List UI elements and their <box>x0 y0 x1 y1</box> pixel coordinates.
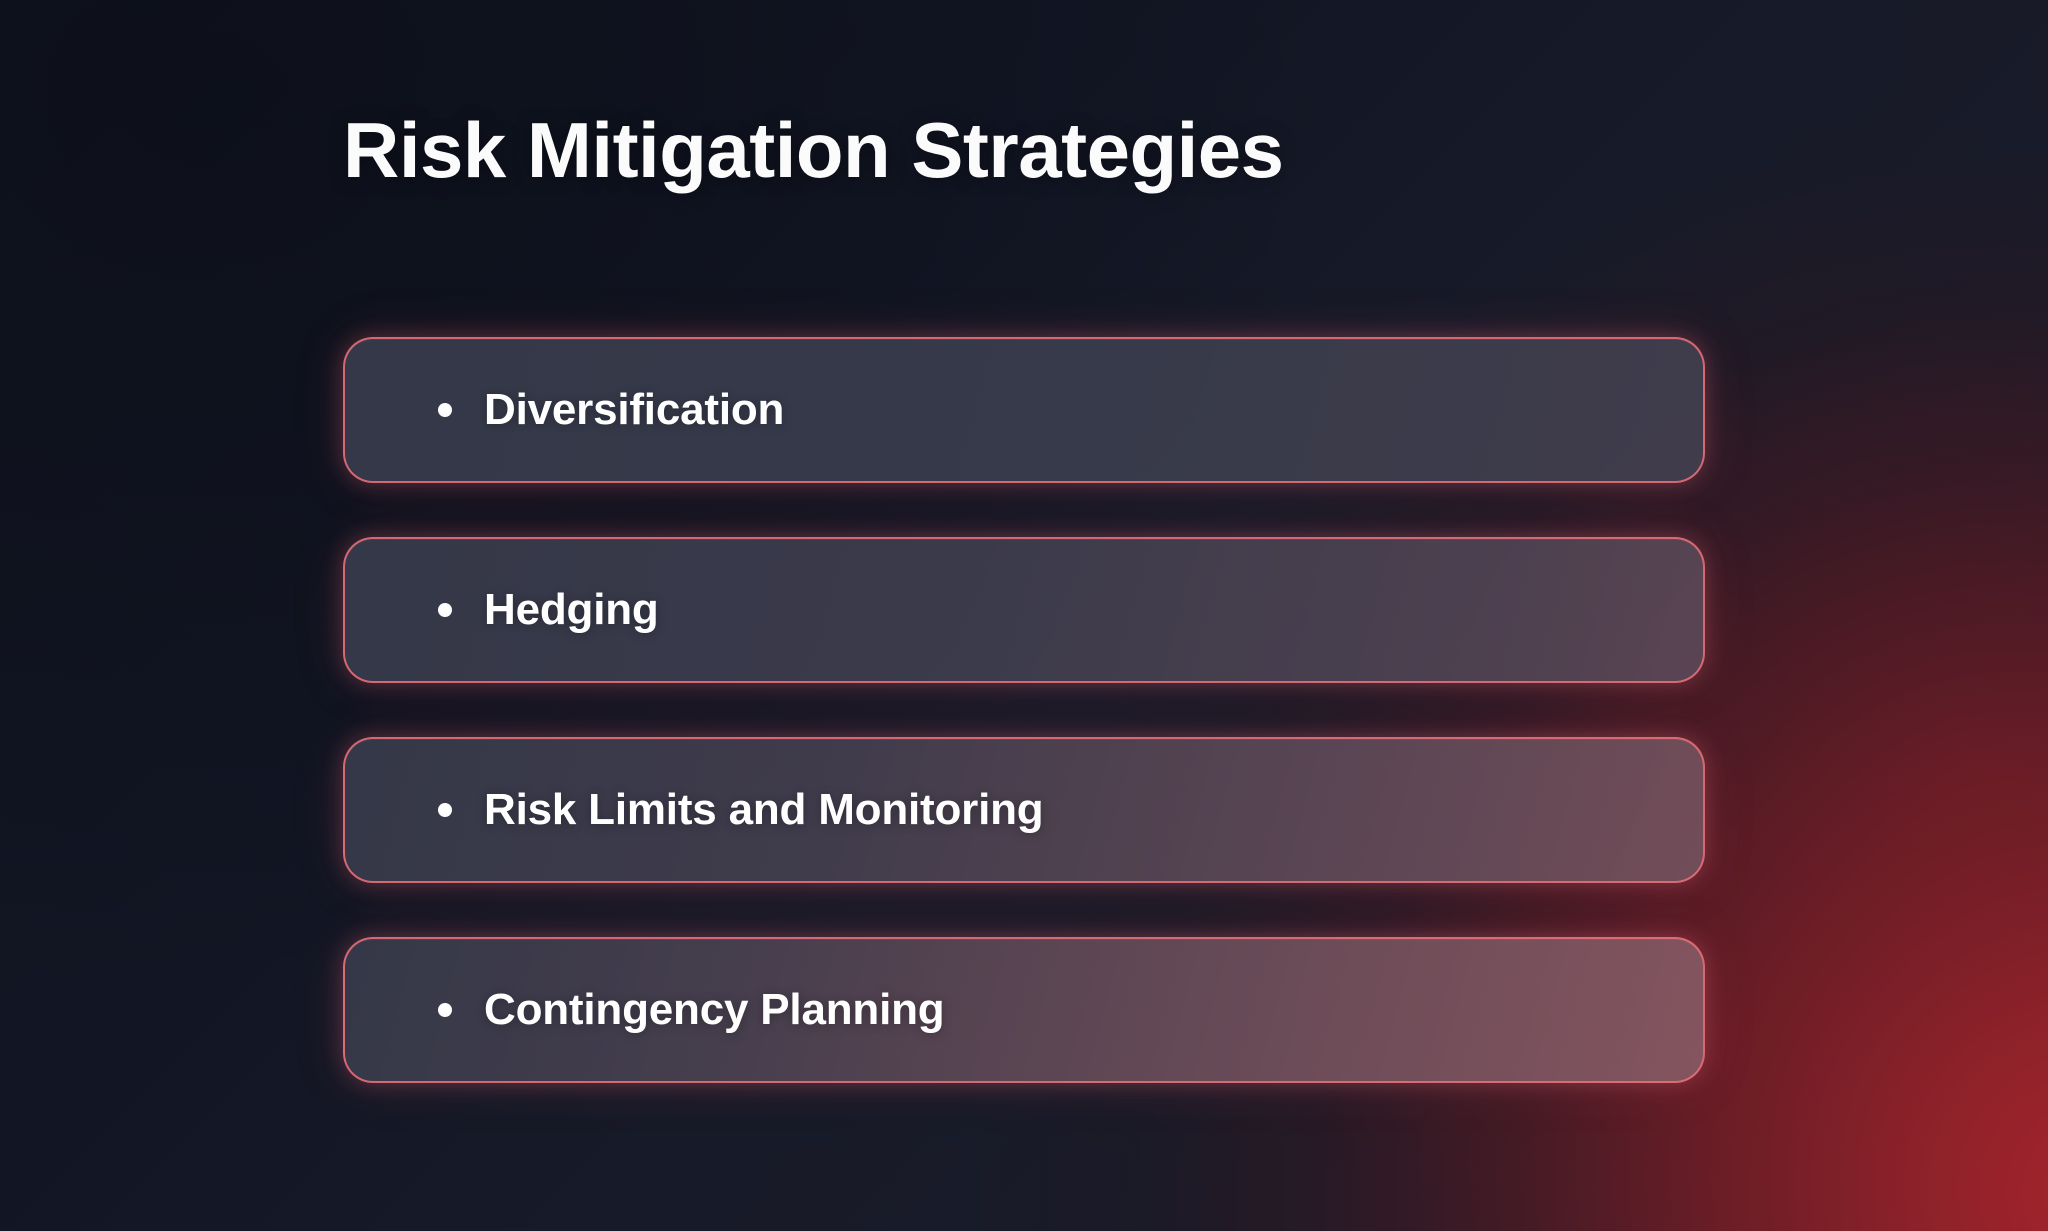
bullet-dot-icon <box>438 403 452 417</box>
bullet-card-list: Diversification Hedging Risk Limits and … <box>343 337 1705 1083</box>
page-title: Risk Mitigation Strategies <box>343 108 1284 194</box>
bullet-card-label: Contingency Planning <box>484 985 944 1035</box>
bullet-dot-icon <box>438 803 452 817</box>
bullet-card-risk-limits-and-monitoring[interactable]: Risk Limits and Monitoring <box>343 737 1705 883</box>
bullet-card-label: Diversification <box>484 385 784 435</box>
slide: Risk Mitigation Strategies Diversificati… <box>0 0 2048 1231</box>
bullet-card-hedging[interactable]: Hedging <box>343 537 1705 683</box>
bullet-card-label: Hedging <box>484 585 659 635</box>
bullet-dot-icon <box>438 1003 452 1017</box>
bullet-card-label: Risk Limits and Monitoring <box>484 785 1043 835</box>
bullet-dot-icon <box>438 603 452 617</box>
bullet-card-contingency-planning[interactable]: Contingency Planning <box>343 937 1705 1083</box>
bullet-card-diversification[interactable]: Diversification <box>343 337 1705 483</box>
